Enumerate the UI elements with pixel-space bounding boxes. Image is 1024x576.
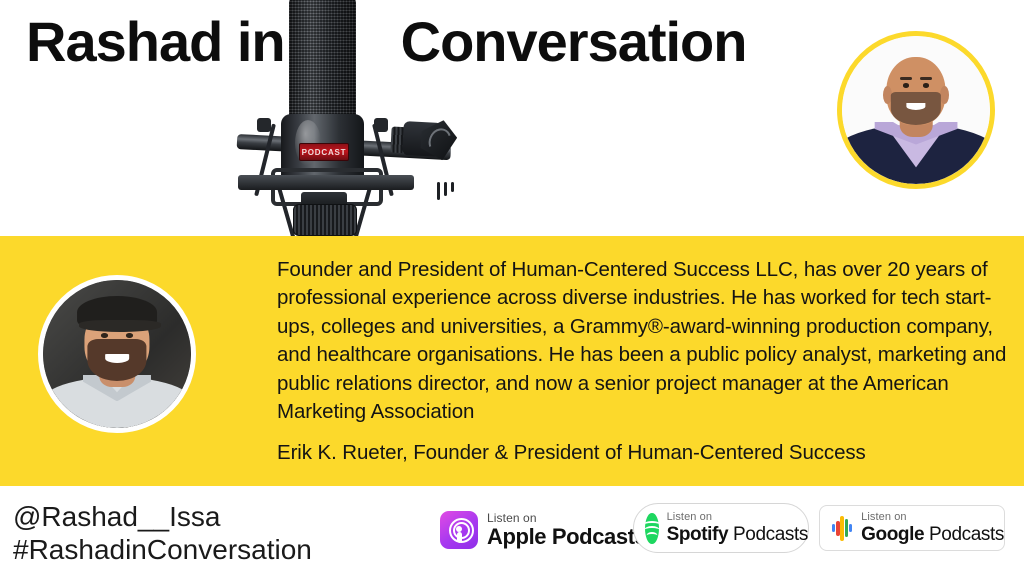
guest-attribution: Erik K. Rueter, Founder & President of H… <box>277 439 1012 467</box>
hashtag: #RashadinConversation <box>13 533 312 566</box>
spotify-wave <box>646 532 657 539</box>
spotify-badge-text: Listen on Spotify Podcasts <box>667 512 808 544</box>
host-avatar <box>837 31 995 189</box>
microphone-grille <box>289 0 356 122</box>
google-bar-yellow <box>840 516 843 541</box>
spotify-brand-label: Spotify Podcasts <box>667 525 808 544</box>
spotify-brand-name: Spotify <box>667 524 729 545</box>
guest-cap-brim <box>79 320 162 332</box>
microphone-knurled-collar <box>293 204 357 236</box>
mic-podcast-label: PODCAST <box>302 148 347 157</box>
google-bar-blue-right <box>849 524 852 532</box>
host-eyebrow <box>900 77 912 80</box>
boom-prong <box>451 182 454 192</box>
host-avatar-image <box>842 36 990 184</box>
google-brand-label: Google Podcasts <box>861 525 1004 544</box>
apple-brand-name: Apple <box>487 524 546 549</box>
microphone-illustration: PODCAST <box>243 0 403 234</box>
guest-avatar <box>38 275 196 433</box>
mic-podcast-badge: PODCAST <box>299 143 349 161</box>
shockmount-clamp <box>374 118 388 132</box>
google-bar-red <box>836 521 839 536</box>
google-brand-name: Google <box>861 524 924 545</box>
google-listen-on-label: Listen on <box>861 512 1004 523</box>
google-brand-suffix: Podcasts <box>924 524 1004 545</box>
guest-bio-text: Founder and President of Human-Centered … <box>277 256 1012 426</box>
google-bar-blue-left <box>832 524 835 532</box>
google-podcasts-icon <box>832 515 852 541</box>
apple-brand-label: Apple Podcasts <box>487 526 646 548</box>
podcast-platform-badges: Listen on Apple Podcasts Listen on Spoti… <box>430 503 1015 555</box>
boom-prong <box>437 182 440 200</box>
apple-listen-on-label: Listen on <box>487 512 646 524</box>
google-bar-green <box>845 519 848 537</box>
twitter-handle: @Rashad__Issa <box>13 500 312 533</box>
guest-eye <box>101 333 108 337</box>
apple-stem <box>457 532 462 543</box>
grille-mesh <box>289 0 356 122</box>
apple-podcasts-icon <box>440 511 478 549</box>
google-badge-text: Listen on Google Podcasts <box>861 512 1004 544</box>
apple-badge-text: Listen on Apple Podcasts <box>487 512 646 548</box>
apple-podcasts-badge[interactable]: Listen on Apple Podcasts <box>440 509 646 551</box>
spotify-listen-on-label: Listen on <box>667 512 808 523</box>
spotify-badge[interactable]: Listen on Spotify Podcasts <box>633 503 809 553</box>
guest-eye <box>126 333 133 337</box>
guest-avatar-image <box>43 280 191 428</box>
host-eye <box>923 83 930 87</box>
boom-prong <box>444 182 447 196</box>
shockmount-clamp <box>257 118 271 132</box>
social-handles: @Rashad__Issa #RashadinConversation <box>13 500 312 566</box>
shockmount-bar <box>238 175 414 190</box>
spotify-brand-suffix: Podcasts <box>728 524 808 545</box>
spotify-icon <box>645 513 659 544</box>
guest-smile <box>105 354 129 363</box>
host-eyebrow <box>920 77 932 80</box>
podcast-promo-graphic: Rashad inConversation PODCAST <box>0 0 1024 576</box>
google-podcasts-badge[interactable]: Listen on Google Podcasts <box>819 505 1005 551</box>
host-ear <box>940 86 949 104</box>
title-part-2: Conversation <box>401 10 747 74</box>
host-eye <box>903 83 910 87</box>
apple-brand-suffix: Podcasts <box>546 524 646 549</box>
